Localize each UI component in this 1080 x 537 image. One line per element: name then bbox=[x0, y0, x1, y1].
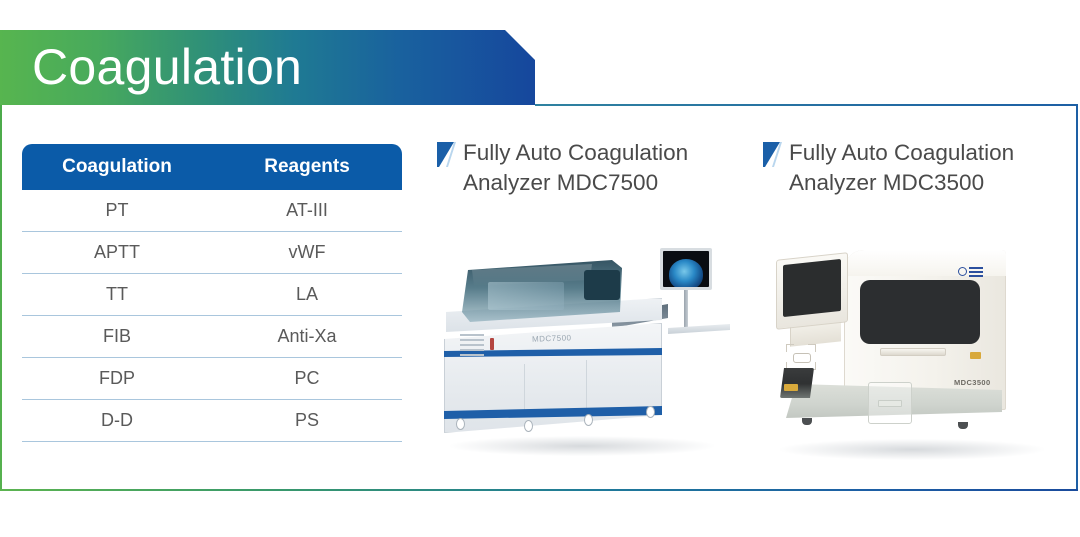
product-heading: Fully Auto Coagulation Analyzer MDC7500 bbox=[437, 138, 747, 198]
product-mdc3500: Fully Auto Coagulation Analyzer MDC3500 bbox=[763, 138, 1073, 198]
cell-test: FDP bbox=[22, 358, 212, 400]
hood-side-panel bbox=[584, 270, 620, 300]
monitor bbox=[660, 248, 712, 290]
cell-reagent: LA bbox=[212, 274, 402, 316]
frame-border-top bbox=[535, 104, 1078, 106]
product-image-mdc3500: MDC3500 bbox=[762, 232, 1062, 462]
frame-border-right bbox=[1076, 104, 1078, 491]
vent-grille-icon bbox=[460, 334, 484, 360]
product-mdc7500: Fully Auto Coagulation Analyzer MDC7500 bbox=[437, 138, 747, 198]
cell-test: APTT bbox=[22, 232, 212, 274]
cell-reagent: vWF bbox=[212, 232, 402, 274]
drawer-slot bbox=[878, 400, 902, 407]
power-indicator bbox=[490, 338, 494, 350]
caster-wheel bbox=[584, 414, 593, 426]
device-foot bbox=[958, 422, 968, 429]
frame-border-bottom bbox=[0, 489, 1078, 491]
monitor-screen bbox=[663, 251, 709, 287]
device-shadow bbox=[450, 436, 714, 456]
cell-test: D-D bbox=[22, 400, 212, 442]
cell-test: TT bbox=[22, 274, 212, 316]
table-row: APTT vWF bbox=[22, 232, 402, 274]
control-keypad bbox=[786, 344, 816, 370]
product-title: Fully Auto Coagulation Analyzer MDC3500 bbox=[789, 138, 1073, 198]
cell-test: PT bbox=[22, 190, 212, 232]
column-header-reagents: Reagents bbox=[212, 144, 402, 190]
caster-wheel bbox=[646, 406, 655, 418]
cabinet-door-seam bbox=[586, 360, 587, 408]
table-row: PT AT-III bbox=[22, 190, 402, 232]
product-image-mdc7500: MDC7500 bbox=[432, 238, 732, 458]
sample-loader bbox=[780, 368, 814, 398]
display-screen bbox=[783, 259, 841, 317]
caster-wheel bbox=[456, 418, 465, 430]
brand-logo-icon bbox=[958, 266, 984, 278]
table-row: D-D PS bbox=[22, 400, 402, 442]
slide-root: Coagulation Coagulation Reagents PT AT-I… bbox=[0, 0, 1080, 537]
cell-test: FIB bbox=[22, 316, 212, 358]
keyboard-tray bbox=[668, 324, 730, 334]
cabinet-door-seam bbox=[524, 364, 525, 412]
caster-wheel bbox=[524, 420, 533, 432]
page-title: Coagulation bbox=[32, 34, 302, 100]
device-foot bbox=[802, 418, 812, 425]
device-shadow bbox=[780, 439, 1044, 460]
reagent-table: Coagulation Reagents PT AT-III APTT vWF … bbox=[22, 144, 402, 442]
column-header-coagulation: Coagulation bbox=[22, 144, 212, 190]
cell-reagent: AT-III bbox=[212, 190, 402, 232]
table-header-row: Coagulation Reagents bbox=[22, 144, 402, 190]
loader-sticker bbox=[784, 384, 798, 391]
device-model-label: MDC7500 bbox=[532, 333, 572, 343]
flag-bullet-icon bbox=[763, 142, 782, 168]
device-model-label: MDC3500 bbox=[954, 378, 991, 387]
warning-sticker bbox=[970, 352, 981, 359]
cell-reagent: Anti-Xa bbox=[212, 316, 402, 358]
reagent-compartment-door bbox=[860, 280, 980, 344]
cell-reagent: PC bbox=[212, 358, 402, 400]
product-heading: Fully Auto Coagulation Analyzer MDC3500 bbox=[763, 138, 1073, 198]
table-row: FDP PC bbox=[22, 358, 402, 400]
table-row: FIB Anti-Xa bbox=[22, 316, 402, 358]
flag-bullet-icon bbox=[437, 142, 456, 168]
hood-interior bbox=[488, 282, 564, 310]
door-handle bbox=[880, 348, 946, 356]
cell-reagent: PS bbox=[212, 400, 402, 442]
product-title: Fully Auto Coagulation Analyzer MDC7500 bbox=[463, 138, 747, 198]
table-row: TT LA bbox=[22, 274, 402, 316]
